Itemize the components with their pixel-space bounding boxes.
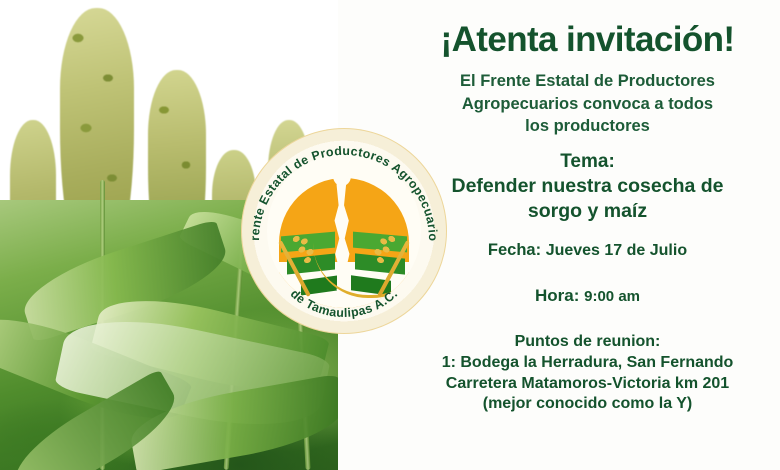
invitation-text-column: ¡Atenta invitación! El Frente Estatal de… bbox=[395, 0, 780, 470]
invitation-poster: Frente Estatal de Productores Agropecuar… bbox=[0, 0, 780, 470]
logo-ring-text-bottom: de Tamaulipas A.C. bbox=[288, 287, 401, 321]
intro-paragraph: El Frente Estatal de Productores Agropec… bbox=[430, 70, 746, 137]
meeting-point-line: 1: Bodega la Herradura, San Fernando bbox=[412, 353, 764, 374]
intro-line: El Frente Estatal de Productores bbox=[460, 72, 715, 90]
topic-label: Tema: bbox=[395, 151, 780, 173]
date-value: Jueves 17 de Julio bbox=[546, 242, 687, 259]
intro-line: los productores bbox=[525, 117, 650, 135]
date-row: Fecha: Jueves 17 de Julio bbox=[395, 241, 780, 260]
topic-text: Defender nuestra cosecha de sorgo y maíz bbox=[423, 174, 753, 223]
time-value: 9:00 am bbox=[584, 288, 640, 305]
time-row: Hora: 9:00 am bbox=[395, 286, 780, 306]
time-label: Hora: bbox=[535, 286, 579, 305]
meeting-point-line: (mejor conocido como la Y) bbox=[412, 394, 764, 415]
intro-line: Agropecuarios convoca a todos bbox=[462, 95, 713, 113]
date-label: Fecha: bbox=[488, 241, 541, 259]
meeting-points-title: Puntos de reunion: bbox=[412, 332, 764, 353]
topic-line: Defender nuestra cosecha de bbox=[451, 175, 723, 197]
page-title: ¡Atenta invitación! bbox=[395, 0, 780, 58]
meeting-points-block: Puntos de reunion: 1: Bodega la Herradur… bbox=[412, 332, 764, 415]
topic-line: sorgo y maíz bbox=[528, 200, 647, 222]
meeting-point-line: Carretera Matamoros-Victoria km 201 bbox=[412, 374, 764, 395]
